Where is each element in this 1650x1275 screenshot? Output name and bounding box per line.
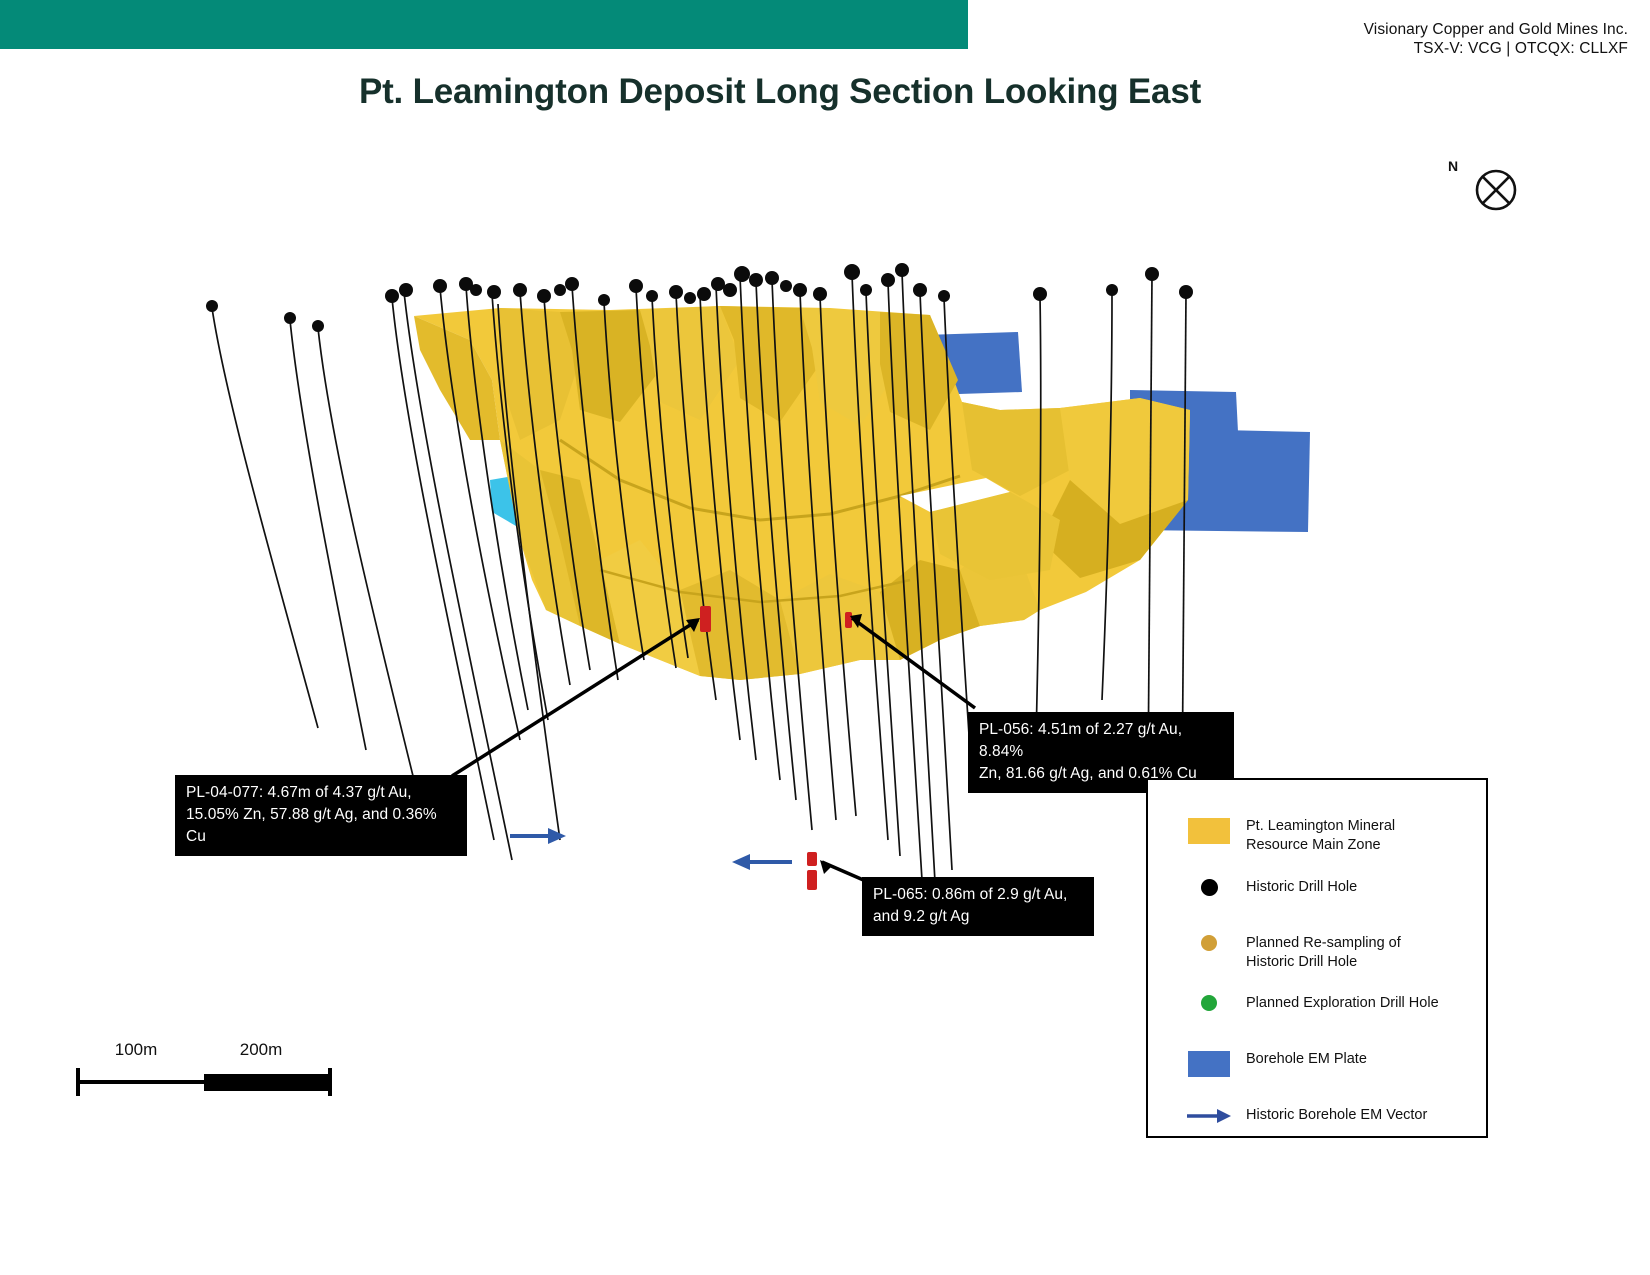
header-accent-bar xyxy=(0,0,968,49)
legend-item-em-vector: Historic Borehole EM Vector xyxy=(1186,1105,1476,1139)
em-plate-swatch xyxy=(1186,1049,1232,1077)
company-tickers: TSX-V: VCG | OTCQX: CLLXF xyxy=(1364,39,1628,58)
scale-bar-graphic xyxy=(75,1066,335,1110)
em-vector-arrow-icon xyxy=(1186,1105,1232,1125)
collar-dot xyxy=(793,283,807,297)
collar-dot xyxy=(749,273,763,287)
collar-dot xyxy=(284,312,296,324)
scale-bar: 100m 200m xyxy=(75,1040,335,1110)
planned-resampling-dot xyxy=(1186,933,1232,951)
collar-dot xyxy=(598,294,610,306)
collar-dot xyxy=(765,271,779,285)
collar-dot xyxy=(895,263,909,277)
legend-label-historic-drill-hole: Historic Drill Hole xyxy=(1232,877,1357,897)
collar-dot xyxy=(206,300,218,312)
callout-pl-04-077: PL-04-077: 4.67m of 4.37 g/t Au, 15.05% … xyxy=(175,775,467,856)
collar-dot xyxy=(1145,267,1159,281)
planned-exploration-dot xyxy=(1186,993,1232,1011)
legend-item-planned-resampling: Planned Re-sampling of Historic Drill Ho… xyxy=(1186,933,1476,972)
collar-dot xyxy=(913,283,927,297)
collar-dot xyxy=(1179,285,1193,299)
mineral-zone-swatch xyxy=(1186,816,1232,844)
collar-dot xyxy=(565,277,579,291)
collar-dot xyxy=(723,283,737,297)
collar-dot xyxy=(470,284,482,296)
collar-dot xyxy=(1106,284,1118,296)
intercept-pl04077 xyxy=(700,606,711,632)
collar-dot xyxy=(860,284,872,296)
page-title: Pt. Leamington Deposit Long Section Look… xyxy=(0,72,1560,112)
legend-item-mineral-zone: Pt. Leamington Mineral Resource Main Zon… xyxy=(1186,816,1476,855)
collar-dot xyxy=(513,283,527,297)
legend-label-em-vector: Historic Borehole EM Vector xyxy=(1232,1105,1427,1125)
legend-item-historic-drill-hole: Historic Drill Hole xyxy=(1186,877,1476,911)
collar-dot xyxy=(734,266,750,282)
collar-dot xyxy=(844,264,860,280)
legend-label-mineral-zone: Pt. Leamington Mineral Resource Main Zon… xyxy=(1232,816,1395,855)
drill-trace xyxy=(212,308,318,728)
em-vector-head-1 xyxy=(548,828,566,844)
em-vector-head-2 xyxy=(732,854,750,870)
legend-label-planned-resampling: Planned Re-sampling of Historic Drill Ho… xyxy=(1232,933,1401,972)
intercept-pl065-b xyxy=(807,870,817,890)
collar-dot xyxy=(697,287,711,301)
collar-dot xyxy=(646,290,658,302)
collar-dot xyxy=(1033,287,1047,301)
collar-dot xyxy=(312,320,324,332)
collar-dot xyxy=(487,285,501,299)
collar-dot xyxy=(537,289,551,303)
collar-dot xyxy=(780,280,792,292)
leader-pl04077 xyxy=(452,620,698,776)
legend-item-em-plate: Borehole EM Plate xyxy=(1186,1049,1476,1083)
collar-dot xyxy=(433,279,447,293)
collar-dot xyxy=(881,273,895,287)
collar-dot xyxy=(684,292,696,304)
company-identity-block: Visionary Copper and Gold Mines Inc. TSX… xyxy=(1364,20,1628,59)
collar-dot xyxy=(385,289,399,303)
collar-dot xyxy=(554,284,566,296)
scale-label-100m: 100m xyxy=(91,1040,181,1060)
collar-dot xyxy=(669,285,683,299)
em-vector-arrows xyxy=(510,828,792,870)
historic-drill-hole-dot xyxy=(1186,877,1232,896)
scale-label-200m: 200m xyxy=(216,1040,306,1060)
intercept-pl065-a xyxy=(807,852,817,866)
legend-items-list: Pt. Leamington Mineral Resource Main Zon… xyxy=(1186,816,1476,1161)
callout-pl-065: PL-065: 0.86m of 2.9 g/t Au, and 9.2 g/t… xyxy=(862,877,1094,936)
collar-dot xyxy=(938,290,950,302)
collar-dot xyxy=(399,283,413,297)
legend-item-planned-exploration: Planned Exploration Drill Hole xyxy=(1186,993,1476,1027)
intercept-pl056 xyxy=(845,612,852,628)
legend-label-em-plate: Borehole EM Plate xyxy=(1232,1049,1367,1069)
company-name: Visionary Copper and Gold Mines Inc. xyxy=(1364,20,1628,39)
legend-label-planned-exploration: Planned Exploration Drill Hole xyxy=(1232,993,1439,1013)
collar-dot xyxy=(711,277,725,291)
collar-dot xyxy=(629,279,643,293)
drill-trace xyxy=(318,328,414,780)
collar-dot xyxy=(813,287,827,301)
legend-panel: Pt. Leamington Mineral Resource Main Zon… xyxy=(1146,778,1488,1138)
